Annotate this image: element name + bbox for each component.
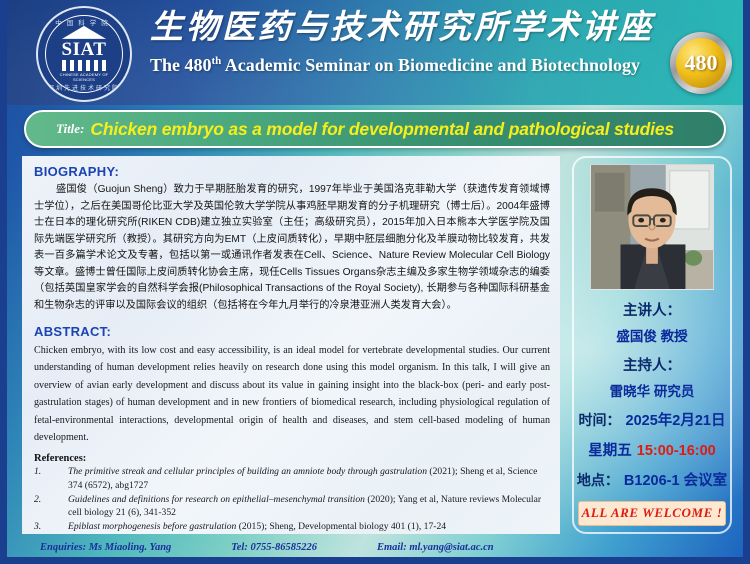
logo-pediment-icon [62, 26, 106, 39]
reference-item: 2. Guidelines and definitions for resear… [34, 493, 550, 520]
reference-body: Guidelines and definitions for research … [68, 493, 550, 520]
references-list: 1. The primitive streak and cellular pri… [34, 465, 550, 534]
talk-title-text: Chicken embryo as a model for developmen… [90, 119, 674, 140]
reference-number: 1. [34, 465, 68, 492]
footer-tel: Tel: 0755-86585226 [231, 542, 317, 553]
speaker-photo [590, 164, 714, 290]
poster-title-chinese: 生物医药与技术研究所学术讲座 [150, 8, 640, 49]
reference-body: RhoA and microtubule dynamics control ce… [68, 533, 550, 534]
title-en-post: Academic Seminar on Biomedicine and Biot… [221, 55, 640, 75]
reference-title: The primitive streak and cellular princi… [68, 466, 427, 477]
seminar-poster: 中国科学院 SIAT CHINESE ACADEMY OF SCIENCES 深… [0, 0, 750, 564]
reference-item: 4. RhoA and microtubule dynamics control… [34, 533, 550, 534]
talk-title-bar: Title: Chicken embryo as a model for dev… [24, 110, 726, 148]
content-card: BIOGRAPHY: 盛国俊（Guojun Sheng）致力于早期胚胎发育的研究… [22, 156, 560, 534]
host-name: 雷晓华 研究员 [610, 380, 695, 400]
logo-inner: SIAT CHINESE ACADEMY OF SCIENCES [53, 23, 115, 85]
reference-item: 1. The primitive streak and cellular pri… [34, 465, 550, 492]
poster-footer: Enquiries: Ms Miaoling. Yang Tel: 0755-8… [0, 536, 750, 558]
reference-number: 3. [34, 520, 68, 534]
talk-title-label: Title: [56, 121, 84, 137]
weekday-row: 星期五 15:00-16:00 [588, 439, 716, 460]
logo-english-text: CHINESE ACADEMY OF SCIENCES [53, 73, 115, 82]
time-weekday: 星期五 [588, 439, 632, 460]
title-en-pre: The 480 [150, 55, 212, 75]
footer-enquiries: Enquiries: Ms Miaoling. Yang [40, 542, 171, 553]
biography-heading: BIOGRAPHY: [34, 164, 550, 179]
seminar-number-value: 480 [676, 38, 726, 88]
references-heading: References: [34, 453, 550, 464]
reference-title: Guidelines and definitions for research … [68, 494, 365, 505]
speaker-portrait-illustration [591, 165, 713, 289]
time-range: 15:00-16:00 [637, 443, 716, 459]
abstract-heading: ABSTRACT: [34, 324, 550, 339]
time-date: 2025年2月21日 [626, 409, 726, 430]
header-titles: 生物医药与技术研究所学术讲座 The 480th Academic Semina… [150, 8, 640, 76]
reference-number: 2. [34, 493, 68, 520]
time-label: 时间： [579, 410, 621, 430]
place-label: 地点： [577, 470, 619, 490]
biography-text: 盛国俊（Guojun Sheng）致力于早期胚胎发育的研究，1997年毕业于美国… [34, 182, 550, 314]
host-label: 主持人： [623, 354, 681, 375]
title-en-ordinal: th [212, 55, 222, 67]
reference-title: Epiblast morphogenesis before gastrulati… [68, 521, 236, 532]
time-row: 时间： 2025年2月21日 [579, 409, 726, 430]
seminar-number-medallion: 480 [670, 32, 732, 94]
abstract-text: Chicken embryo, with its low cost and ea… [34, 342, 550, 446]
reference-number: 4. [34, 533, 68, 534]
logo-arc-bottom-text: 深圳先进技术研究院 [38, 83, 130, 92]
speaker-label: 主讲人： [623, 299, 681, 320]
speaker-name: 盛国俊 教授 [616, 325, 687, 345]
place-row: 地点： B1206-1 会议室 [577, 469, 727, 490]
place-value: B1206-1 会议室 [624, 469, 727, 490]
logo-siat-wordmark: SIAT [62, 40, 107, 59]
poster-title-english: The 480th Academic Seminar on Biomedicin… [150, 55, 640, 76]
poster-header: 中国科学院 SIAT CHINESE ACADEMY OF SCIENCES 深… [0, 0, 750, 105]
logo-columns-icon [62, 60, 106, 71]
welcome-banner: ALL ARE WELCOME ! [578, 501, 726, 526]
footer-email: Email: ml.yang@siat.ac.cn [377, 542, 494, 553]
reference-body: The primitive streak and cellular princi… [68, 465, 550, 492]
reference-item: 3. Epiblast morphogenesis before gastrul… [34, 520, 550, 534]
siat-logo: 中国科学院 SIAT CHINESE ACADEMY OF SCIENCES 深… [36, 6, 132, 102]
seminar-details-panel: 主讲人： 盛国俊 教授 主持人： 雷晓华 研究员 时间： 2025年2月21日 … [572, 156, 732, 534]
reference-citation: (2015); Sheng, Developmental biology 401… [236, 521, 446, 532]
reference-body: Epiblast morphogenesis before gastrulati… [68, 520, 550, 534]
